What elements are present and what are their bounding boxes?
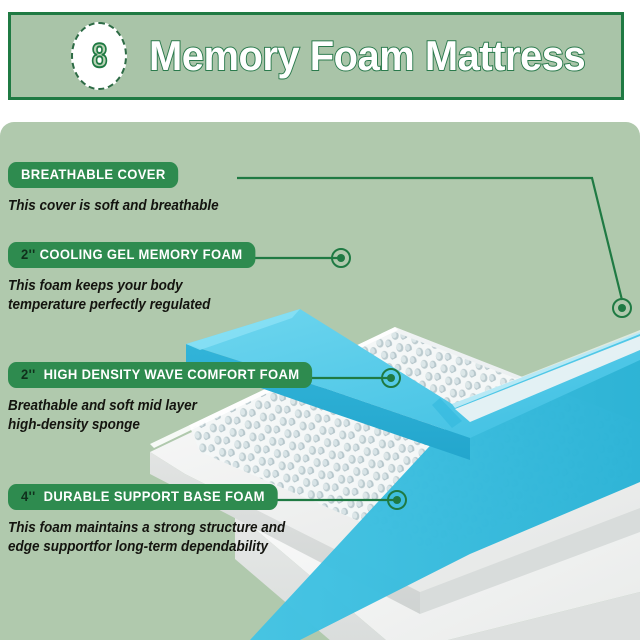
callout-cooling-gel-memory-foam[interactable]: 2'' COOLING GEL MEMORY FOAM This foam ke… — [8, 242, 274, 315]
callout-breathable-cover[interactable]: BREATHABLE COVER This cover is soft and … — [8, 162, 234, 216]
callout-description-base-foam: This foam maintains a strong structure a… — [8, 519, 285, 557]
header-inner: 8 Memory Foam Mattress — [11, 15, 621, 97]
callout-title-base-foam: DURABLE SUPPORT BASE FOAM — [44, 488, 265, 504]
page-title: Memory Foam Mattress — [149, 35, 585, 77]
callout-thickness-cooling-gel: 2'' — [21, 246, 36, 262]
callout-description-cooling-gel: This foam keeps your body temperature pe… — [8, 277, 255, 315]
callout-title-wave-comfort: HIGH DENSITY WAVE COMFORT FOAM — [44, 366, 300, 382]
callout-description-breathable-cover: This cover is soft and breathable — [8, 197, 219, 216]
callout-title-breathable-cover: BREATHABLE COVER — [21, 166, 166, 182]
infographic-root: 8 Memory Foam Mattress — [0, 0, 640, 640]
callout-durable-support-base-foam[interactable]: 4'' DURABLE SUPPORT BASE FOAM This foam … — [8, 484, 306, 557]
callout-label-breathable-cover[interactable]: BREATHABLE COVER — [8, 162, 179, 188]
callout-description-wave-comfort: Breathable and soft mid layer high-densi… — [8, 397, 312, 435]
callout-thickness-base-foam: 4'' — [21, 488, 36, 504]
callout-label-wave-comfort[interactable]: 2'' HIGH DENSITY WAVE COMFORT FOAM — [8, 362, 312, 388]
main-panel: BREATHABLE COVER This cover is soft and … — [0, 122, 640, 640]
step-number-badge: 8 — [71, 22, 127, 90]
badge-number-text: 8 — [91, 39, 107, 73]
callout-high-density-wave-comfort-foam[interactable]: 2'' HIGH DENSITY WAVE COMFORT FOAM Breat… — [8, 362, 335, 435]
header-band: 8 Memory Foam Mattress — [8, 12, 624, 100]
callout-title-cooling-gel: COOLING GEL MEMORY FOAM — [40, 246, 243, 262]
callout-label-base-foam[interactable]: 4'' DURABLE SUPPORT BASE FOAM — [8, 484, 278, 510]
callout-thickness-wave-comfort: 2'' — [21, 366, 36, 382]
callout-label-cooling-gel[interactable]: 2'' COOLING GEL MEMORY FOAM — [8, 242, 255, 268]
